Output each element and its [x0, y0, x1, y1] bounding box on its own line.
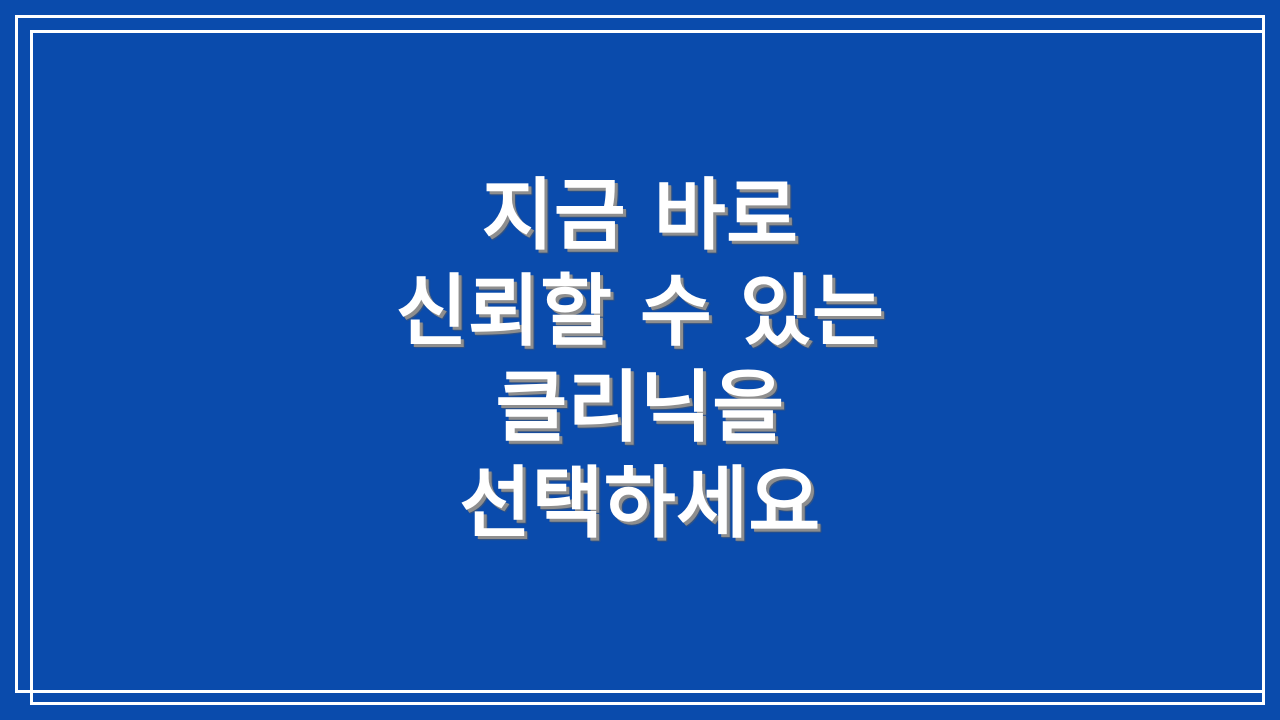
- headline-line-4: 선택하세요: [459, 456, 820, 552]
- headline-line-3: 클리닉을: [495, 360, 784, 456]
- headline-line-2: 신뢰할 수 있는: [396, 264, 885, 360]
- promo-poster: 지금 바로 신뢰할 수 있는 클리닉을 선택하세요: [0, 0, 1280, 720]
- headline-block: 지금 바로 신뢰할 수 있는 클리닉을 선택하세요: [0, 0, 1280, 720]
- headline-line-1: 지금 바로: [482, 168, 799, 264]
